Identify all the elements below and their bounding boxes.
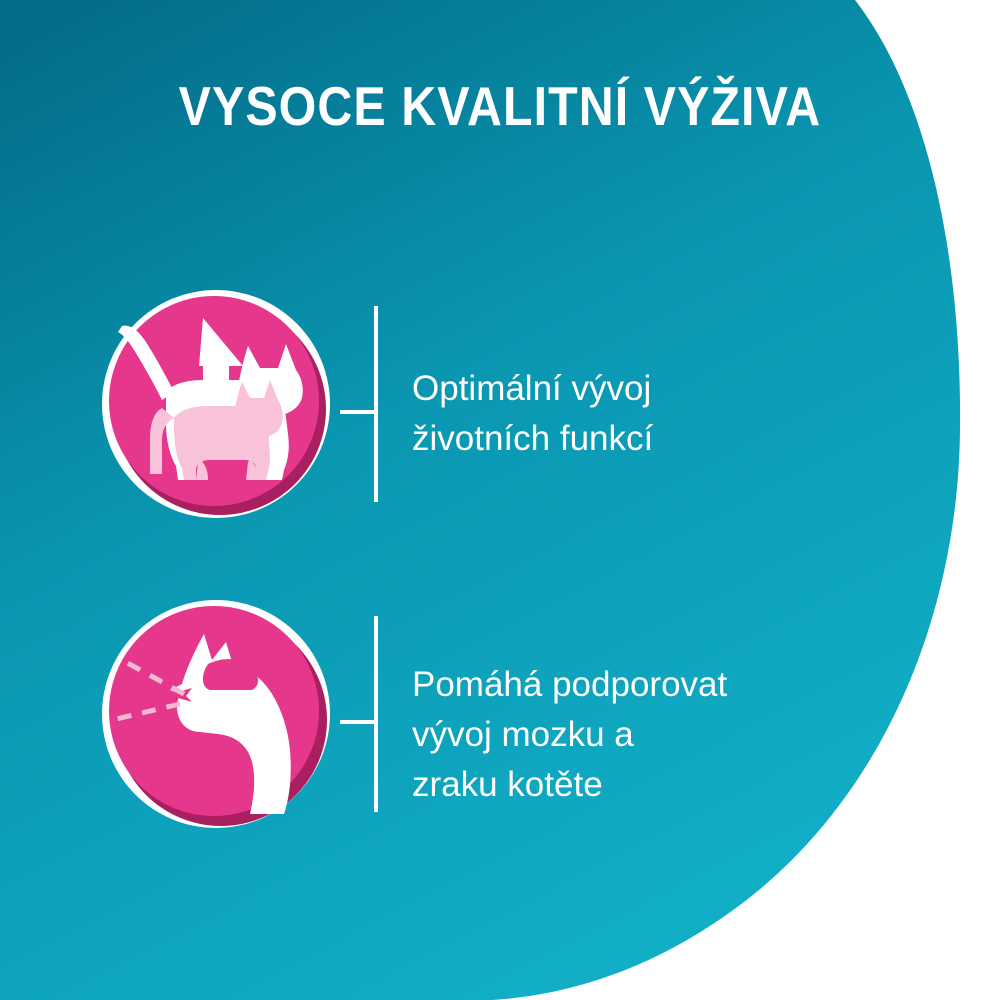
page-title: VYSOCE KVALITNÍ VÝŽIVA (60, 78, 940, 136)
feature-text: Pomáhá podporovat vývoj mozku a zraku ko… (412, 660, 932, 810)
vertical-rule (374, 616, 378, 812)
tick-mark (340, 720, 378, 724)
poster-canvas: VYSOCE KVALITNÍ VÝŽIVA (0, 0, 1000, 1000)
feature-text-line: vývoj mozku a (412, 710, 932, 760)
feature-text-line: zraku kotěte (412, 760, 932, 810)
feature-text: Optimální vývoj životních funkcí (412, 364, 932, 464)
feature-text-line: životních funkcí (412, 414, 932, 464)
feature-text-line: Pomáhá podporovat (412, 660, 932, 710)
feature-row: Pomáhá podporovat vývoj mozku a zraku ko… (0, 598, 1000, 838)
cat-vision-eye-icon (100, 598, 332, 830)
connector-rule (340, 598, 400, 830)
feature-text-line: Optimální vývoj (412, 364, 932, 414)
feature-row: Optimální vývoj životních funkcí (0, 288, 1000, 528)
connector-rule (340, 288, 400, 520)
tick-mark (340, 410, 378, 414)
growing-kitten-arrow-icon (100, 288, 332, 520)
vertical-rule (374, 306, 378, 502)
